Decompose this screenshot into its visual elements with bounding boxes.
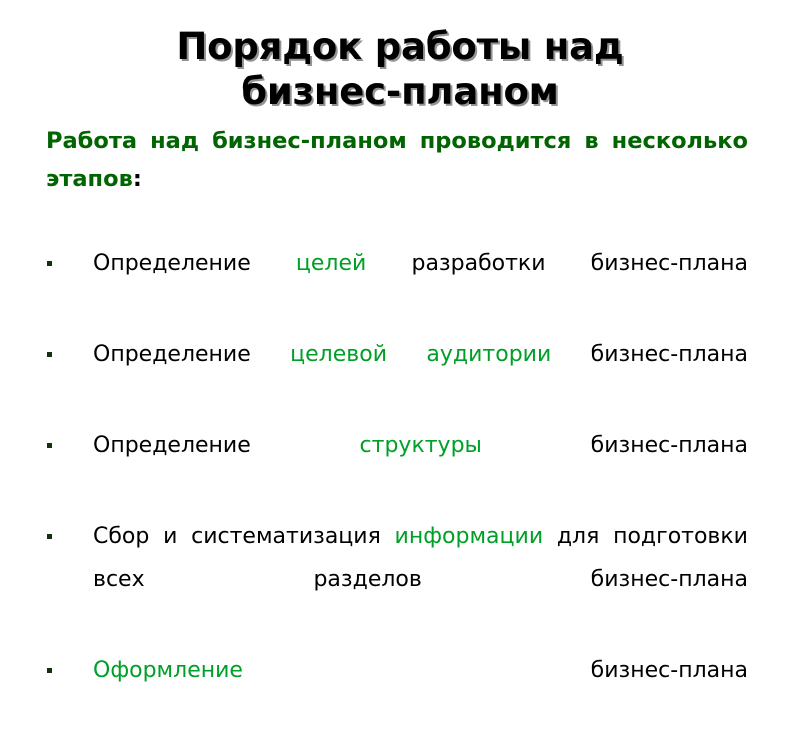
bullet-text-segment: бизнес-плана bbox=[482, 433, 748, 458]
bullet-text-segment: бизнес-плана bbox=[551, 342, 748, 367]
bullet-text-highlight: информации bbox=[395, 524, 544, 549]
bullet-text-highlight: Оформление bbox=[93, 658, 243, 683]
slide-canvas: Порядок работы над бизнес-планом Работа … bbox=[0, 0, 800, 600]
list-item: Определение структуры бизнес-плана bbox=[0, 424, 800, 510]
list-item: Определение целей разработки бизнес-план… bbox=[0, 242, 800, 328]
page-title: Порядок работы над бизнес-планом bbox=[40, 24, 760, 114]
bullet-text-segment: бизнес-плана bbox=[243, 658, 748, 683]
bullet-text-segment: Определение bbox=[93, 433, 360, 458]
bullet-text-highlight: целевой аудитории bbox=[290, 342, 551, 367]
lead-paragraph-colon: : bbox=[133, 166, 142, 192]
slide-body: Работа над бизнес-планом проводится в не… bbox=[0, 122, 800, 740]
list-item: Сбор и систематизация информации для под… bbox=[0, 515, 800, 644]
lead-paragraph: Работа над бизнес-планом проводится в не… bbox=[0, 122, 800, 236]
bullet-text-segment: Определение bbox=[93, 251, 296, 276]
bullet-text-highlight: структуры bbox=[360, 433, 482, 458]
bullet-text-segment: Определение bbox=[93, 342, 290, 367]
bullet-text-segment: Сбор и систематизация bbox=[93, 524, 395, 549]
lead-paragraph-green-text: Работа над бизнес-планом проводится в не… bbox=[46, 128, 748, 192]
list-item: Оформление бизнес-плана bbox=[0, 649, 800, 735]
list-item: Определение целевой аудитории бизнес-пла… bbox=[0, 333, 800, 419]
bullet-text-segment: разработки бизнес-плана bbox=[366, 251, 748, 276]
bullet-text-highlight: целей bbox=[296, 251, 366, 276]
slide-title: Порядок работы над бизнес-планом bbox=[40, 24, 760, 114]
bullet-list: Определение целей разработки бизнес-план… bbox=[0, 242, 800, 735]
